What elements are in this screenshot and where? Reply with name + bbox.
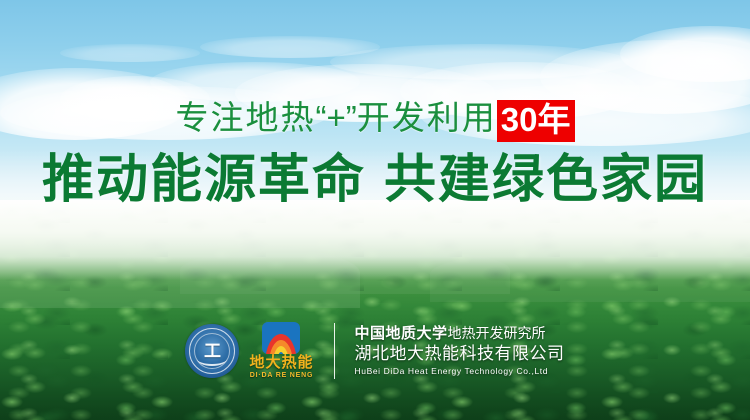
brand-wordmark-cn: 地大热能 <box>249 355 313 371</box>
headline-quote-close: ” <box>346 99 357 136</box>
hill-silhouette <box>430 246 750 302</box>
headline-slogan-part-1: 推动能源革命 <box>42 151 366 209</box>
years-badge: 30年 <box>497 100 575 142</box>
promotional-banner: 专注地热“+”开发利用30年 推动能源革命共建绿色家园 工 地大热能 DI·DA… <box>0 0 750 420</box>
mist-overlay <box>0 200 750 420</box>
canopy-texture <box>0 200 750 420</box>
forest-background <box>0 200 750 420</box>
dida-brand-block: 地大热能 DI·DA RE NENG <box>249 322 313 380</box>
cloud-wisp <box>330 44 630 80</box>
headline-block: 专注地热“+”开发利用30年 推动能源革命共建绿色家园 <box>0 96 750 210</box>
hill-silhouette <box>180 246 510 294</box>
university-seal-icon: 工 <box>185 324 239 378</box>
headline-middle: 开发利用 <box>357 99 497 136</box>
organization-names: 中国地质大学地热开发研究所 湖北地大热能科技有限公司 HuBei DiDa He… <box>355 324 565 378</box>
headline-line-1: 专注地热“+”开发利用30年 <box>0 96 750 142</box>
seal-glyph: 工 <box>185 343 239 360</box>
headline-plus-symbol: + <box>327 99 346 136</box>
headline-prefix: 专注地热 <box>176 99 316 136</box>
org-line-3-english: HuBei DiDa Heat Energy Technology Co.,Lt… <box>355 365 565 378</box>
headline-quote-open: “ <box>316 99 327 136</box>
cloud-wisp <box>200 36 380 58</box>
org-line-1: 中国地质大学地热开发研究所 <box>355 324 565 343</box>
cloud-puff <box>620 26 750 82</box>
footer-logo-bar: 工 地大热能 DI·DA RE NENG 中国地质大学地热开发研究所 湖北地大热… <box>0 318 750 384</box>
headline-slogan-part-2: 共建绿色家园 <box>384 151 708 209</box>
headline-line-2: 推动能源革命共建绿色家园 <box>0 150 750 210</box>
brand-wordmark-en: DI·DA RE NENG <box>250 371 313 380</box>
hill-silhouette <box>0 238 360 308</box>
cloud-wisp <box>60 44 200 62</box>
footer-divider <box>334 323 335 379</box>
org-line-2: 湖北地大热能科技有限公司 <box>355 343 565 365</box>
org-institute-name: 地热开发研究所 <box>448 325 546 341</box>
org-university-name: 中国地质大学 <box>355 325 448 342</box>
canopy-texture <box>0 200 750 420</box>
dida-rainbow-logo-icon <box>262 322 300 354</box>
footer-logo-group: 工 地大热能 DI·DA RE NENG 中国地质大学地热开发研究所 湖北地大热… <box>185 322 564 380</box>
